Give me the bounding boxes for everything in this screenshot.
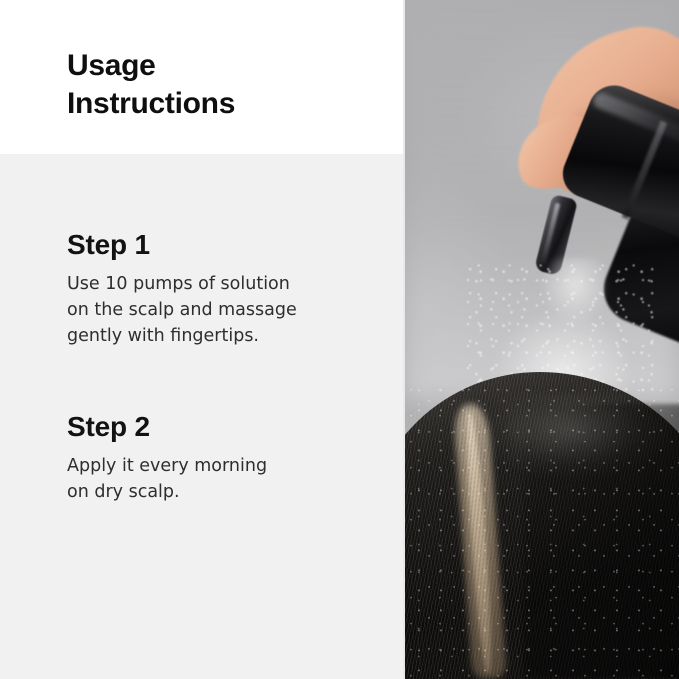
step-2-heading: Step 2 [67, 410, 387, 443]
hair-glints [403, 386, 679, 679]
usage-instructions-card: Usage Instructions Step 1 Use 10 pumps o… [0, 0, 679, 679]
product-usage-photo [403, 0, 679, 679]
step-item-1: Step 1 Use 10 pumps of solution on the s… [67, 228, 387, 349]
step-2-body: Apply it every morning on dry scalp. [67, 453, 387, 505]
text-column: Usage Instructions Step 1 Use 10 pumps o… [0, 0, 403, 679]
header-band: Usage Instructions [0, 0, 403, 154]
photo-left-edge [403, 0, 405, 679]
step-item-2: Step 2 Apply it every morning on dry sca… [67, 410, 387, 505]
step-1-heading: Step 1 [67, 228, 387, 261]
step-1-body: Use 10 pumps of solution on the scalp an… [67, 271, 387, 349]
page-title: Usage Instructions [67, 47, 387, 123]
